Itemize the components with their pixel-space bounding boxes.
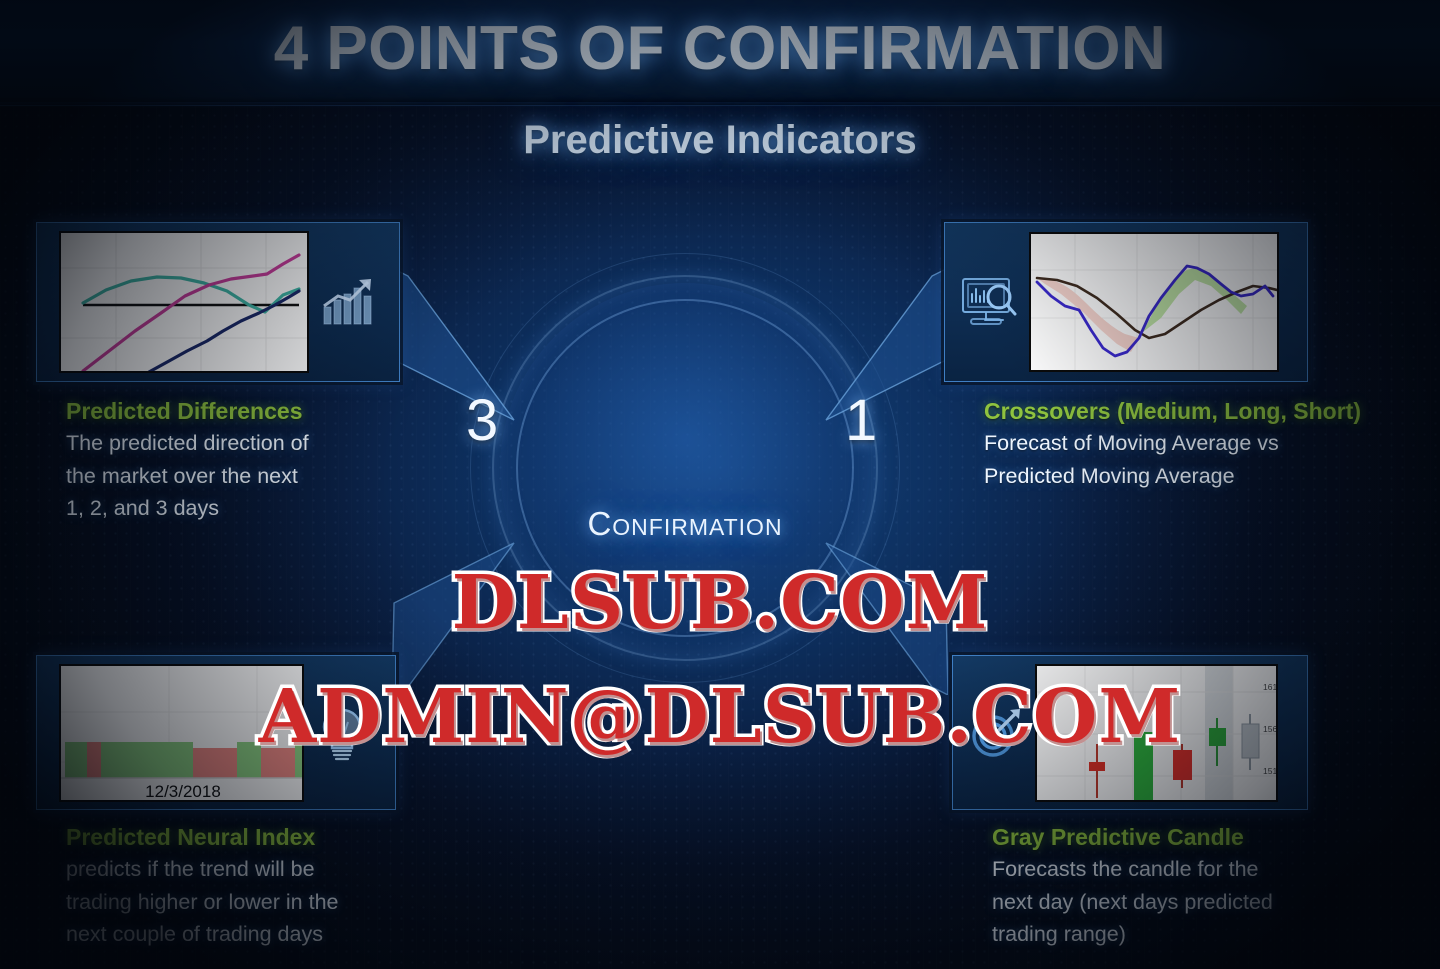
watermark-email-text: ADMIN@DLSUB.COM	[259, 674, 1182, 760]
watermark-domain-text: DLSUB.COM	[452, 560, 989, 646]
slide-canvas: 4 POINTS OF CONFIRMATION Predictive Indi…	[0, 0, 1440, 969]
watermark-email: ADMIN@DLSUB.COM	[259, 674, 1182, 760]
vignette-overlay	[0, 0, 1440, 969]
watermark-domain: DLSUB.COM	[452, 560, 989, 646]
